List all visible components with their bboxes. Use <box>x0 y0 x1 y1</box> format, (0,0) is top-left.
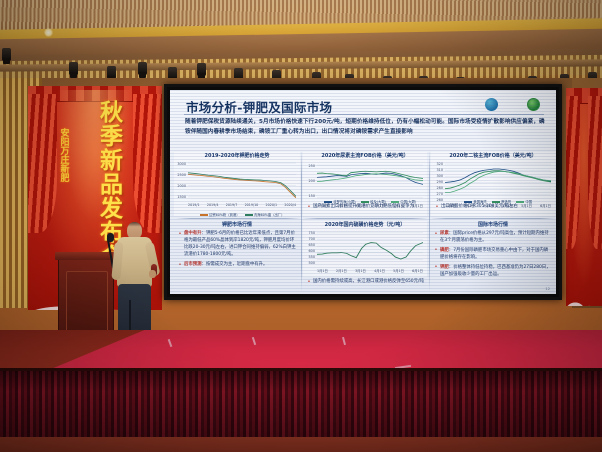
y-tick: 1500 <box>177 195 186 199</box>
slide-divider-horizontal <box>176 218 301 219</box>
x-tick: 2019/4 <box>207 203 219 211</box>
block-sulphur-note: 国内价格需持续或高，长江港口或港价格反弹至650元/吨 <box>307 278 425 288</box>
block-dap-note: 出口磷酸价格CFR305-308美元/吨左右 <box>435 203 551 213</box>
bullet-item: 出口磷酸价格CFR305-308美元/吨左右 <box>435 203 551 210</box>
slide-divider-horizontal <box>431 218 555 219</box>
chart-cell-sulphur-domestic: 2020年国内硫磺价格走势（元/吨） 750 700 650 600 550 5… <box>303 221 427 277</box>
line-chart-svg <box>445 161 551 202</box>
stage-light <box>197 63 206 76</box>
bullet-label: 尿素 <box>440 231 449 236</box>
block-international-market: 国际市场行情 尿素：国际price价格从297元/吨高位，预计短期内维持在3个月… <box>431 221 555 293</box>
curtain-drape-right <box>133 94 162 233</box>
banner-left-sub-text: 安阳万庄新肥 <box>58 128 67 228</box>
bullet-text: 国内价格需持续或高，长江港口或港价格反弹至650元/吨 <box>313 279 424 284</box>
stage-light <box>2 48 11 61</box>
x-tick: 2020/4 <box>284 203 296 211</box>
slide-divider-vertical <box>301 150 302 292</box>
led-screen: 市场分析-钾肥及国际市场 随着钾肥保税货源陆续通关，5月市场价格快速下行200元… <box>164 84 562 300</box>
banner-wave-graphic <box>566 282 602 306</box>
y-tick: 320 <box>437 162 443 166</box>
x-tick: 3月1日 <box>355 268 366 276</box>
chart-legend: 边贸60%粉（到港） 青海60%晶（出厂） <box>188 212 296 217</box>
chart-title: 2020年二铵主流FOB价格（美元/吨） <box>431 152 555 159</box>
line-chart-svg <box>188 161 296 202</box>
y-tick: 550 <box>309 255 315 259</box>
block-potash-market: 钾肥市场行情 盘中有升：钾肥5-6月的价格已比近年来低点，且第7月价格为最低产品… <box>175 221 299 291</box>
chart-y-axis: 3000 2500 2000 1500 <box>174 160 187 203</box>
y-tick: 750 <box>309 231 315 235</box>
bullet-item: 钾肥：价格整体持低位持稳，巴西基准仍为27日280日，国产加强吸收少量的工厂出运… <box>434 264 552 278</box>
bullet-text: ：按需成交为主，近期盘中有升。 <box>202 262 268 267</box>
chart-x-axis: 2019/1 2019/4 2019/7 2019/10 2020/1 2020… <box>188 203 296 211</box>
hall-floor <box>0 437 602 452</box>
banner-right <box>566 88 602 306</box>
stage-light <box>138 62 147 75</box>
x-tick: 2019/7 <box>226 203 238 211</box>
chart-y-axis: 320 310 300 290 280 270 260 <box>431 160 444 203</box>
chart-plot-area <box>445 161 551 202</box>
bullet-label: 后市预测 <box>184 262 202 267</box>
bullet-label: 盘中有升 <box>184 231 202 236</box>
y-tick: 300 <box>437 174 443 178</box>
chart-plot-area <box>317 161 423 202</box>
bullet-item: 国内价格需持续或高，长江港口或港价格反弹至650元/吨 <box>307 278 425 285</box>
x-tick: 1月1日 <box>317 268 328 276</box>
legend-entry: 边贸60%粉（到港） <box>200 212 240 217</box>
bullet-text: ：价格整体持低位持稳，巴西基准仍为27日280日，国产加强吸收少量的工厂出运。 <box>440 265 551 277</box>
block-urea-note: 国产尿素出口价格提升到港价竞争力略低但有竞争力 <box>307 203 425 213</box>
x-tick: 2月1日 <box>336 268 347 276</box>
y-tick: 150 <box>309 194 315 198</box>
company-logo-green-icon <box>527 98 540 111</box>
y-tick: 500 <box>309 261 315 265</box>
y-tick: 290 <box>437 180 443 184</box>
slide-divider-horizontal <box>303 218 427 219</box>
title-divider <box>184 114 544 115</box>
chart-cell-potash-trend: 2019-2020年钾肥价格走势 3000 2500 2000 1500 <box>174 152 300 216</box>
bullet-text: ：7月份国际磷肥市场交易重心中由下，对于国内磷肥价格将存在影响。 <box>440 248 548 260</box>
bullet-text: ：国际price价格从297元/吨高位，预计短期内维持在3个月震荡价格为主。 <box>440 231 549 243</box>
y-tick: 310 <box>437 168 443 172</box>
y-tick: 2500 <box>177 173 186 177</box>
x-tick: 2019/10 <box>245 203 259 211</box>
block-title: 国际市场行情 <box>431 221 555 228</box>
y-tick: 280 <box>437 186 443 190</box>
curtain-drape-left <box>28 94 57 233</box>
slide-divider-vertical <box>429 150 430 292</box>
y-tick: 2000 <box>177 184 186 188</box>
ceiling-downlight <box>44 28 53 37</box>
chart-plot-area <box>317 230 423 268</box>
stage-pleated-skirt <box>0 371 602 439</box>
curtain-drape-right <box>588 96 602 249</box>
legend-label: 边贸60%粉（到港） <box>209 213 239 217</box>
chart-title: 2020年尿素主流FOB价格（美元/吨） <box>303 152 427 159</box>
y-tick: 270 <box>437 192 443 196</box>
block-bullet-list: 尿素：国际price价格从297元/吨高位，预计短期内维持在3个月震荡价格为主。… <box>434 230 552 280</box>
x-tick: 2020/1 <box>266 203 278 211</box>
stage-light <box>69 62 78 75</box>
block-bullet-list: 盘中有升：钾肥5-6月的价格已比近年来低点，且第7月价格为最低产品60%晶体到岸… <box>178 230 296 271</box>
x-tick: 4月1日 <box>374 268 385 276</box>
speaker-hand <box>149 270 156 278</box>
bullet-label: 磷肥 <box>440 248 449 253</box>
bullet-item: 国产尿素出口价格提升到港价竞争力略低但有竞争力 <box>307 203 425 210</box>
line-chart-svg <box>317 230 423 268</box>
x-tick: 2019/1 <box>188 203 200 211</box>
presentation-slide: 市场分析-钾肥及国际市场 随着钾肥保税货源陆续通关，5月市场价格快速下行200元… <box>170 90 556 294</box>
chart-y-axis: 750 700 650 600 550 500 <box>303 229 316 269</box>
company-logo-blue-icon <box>485 98 498 111</box>
bullet-item: 磷肥：7月份国际磷肥市场交易重心中由下，对于国内磷肥价格将存在影响。 <box>434 247 552 261</box>
y-tick: 260 <box>437 198 443 202</box>
y-tick: 700 <box>309 237 315 241</box>
y-tick: 200 <box>309 179 315 183</box>
x-tick: 5月1日 <box>393 268 404 276</box>
chart-y-axis: 250 200 150 <box>303 160 316 203</box>
chart-title: 2019-2020年钾肥价格走势 <box>174 152 300 159</box>
chart-title: 2020年国内硫磺价格走势（元/吨） <box>303 221 427 228</box>
y-tick: 650 <box>309 243 315 247</box>
bullet-text: ：钾肥5-6月的价格已比近年来低点，且第7月价格为最低产品60%晶体到岸1820… <box>184 231 296 257</box>
podium-front-panel <box>66 271 108 335</box>
slide-page-number: 12 <box>545 287 550 291</box>
bullet-text: 国产尿素出口价格提升到港价竞争力略低但有竞争力 <box>313 204 414 209</box>
bullet-item: 尿素：国际price价格从297元/吨高位，预计短期内维持在3个月震荡价格为主。 <box>434 230 552 244</box>
y-tick: 250 <box>309 164 315 168</box>
skirt-shading <box>0 371 602 439</box>
y-tick: 3000 <box>177 162 186 166</box>
bullet-label: 钾肥 <box>440 265 449 270</box>
bullet-item: 后市预测：按需成交为主，近期盘中有升。 <box>178 261 296 268</box>
x-tick: 6月1日 <box>412 268 423 276</box>
chart-x-axis: 1月1日 2月1日 3月1日 4月1日 5月1日 6月1日 <box>317 268 423 276</box>
slide-summary-text: 随着钾肥保税货源陆续通关，5月市场价格快速下行200元/吨，短期价格维持低位，仍… <box>185 118 547 138</box>
bullet-text: 出口磷酸价格CFR305-308美元/吨左右 <box>441 204 518 209</box>
bullet-item: 盘中有升：钾肥5-6月的价格已比近年来低点，且第7月价格为最低产品60%晶体到岸… <box>178 230 296 259</box>
curtain-drape-left <box>566 96 580 249</box>
line-chart-svg <box>317 161 423 202</box>
legend-entry: 青海60%晶（出厂） <box>245 212 285 217</box>
legend-label: 青海60%晶（出厂） <box>254 213 284 217</box>
event-photo-scene: 秋季新品发布会 安阳万庄新肥 市场分析-钾肥及国际市场 随着钾肥保税货源陆续通关… <box>0 0 602 452</box>
block-title: 钾肥市场行情 <box>175 221 299 228</box>
y-tick: 600 <box>309 249 315 253</box>
chart-plot-area <box>188 161 296 202</box>
